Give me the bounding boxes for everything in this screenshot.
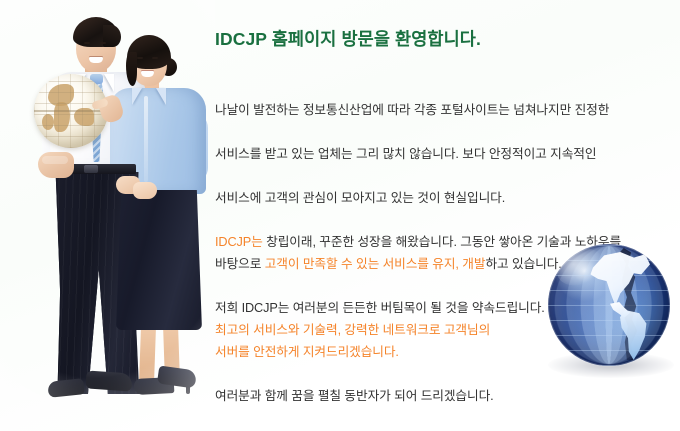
intro-line-1: 나날이 발전하는 정보통신산업에 따라 각종 포털사이트는 넘쳐나지만 진정한	[215, 103, 609, 117]
woman-hair-side	[126, 52, 137, 86]
man-right-shoe	[85, 370, 132, 391]
woman-shirt-placket	[144, 96, 148, 182]
man-left-shoe	[47, 378, 84, 398]
welcome-page: IDCJP 홈페이지 방문을 환영합니다. 나날이 발전하는 정보통신산업에 따…	[0, 0, 680, 431]
antique-globe-prop	[34, 74, 108, 148]
intro-line-2: 서비스를 받고 있는 업체는 그리 많치 않습니다. 보다 안정적이고 지속적인	[215, 147, 596, 161]
globe-sphere	[548, 244, 670, 366]
promise-highlight: 최고의 서비스와 기술력, 강력한 네트워크로 고객님의 서버를 안전하게 지켜…	[215, 323, 490, 359]
intro-line-3: 서비스에 고객의 관심이 모아지고 있는 것이 현실입니다.	[215, 191, 505, 205]
man-belt-buckle	[84, 165, 98, 173]
globe-equator	[34, 110, 108, 112]
page-title: IDCJP 홈페이지 방문을 환영합니다.	[215, 26, 670, 51]
promise-text: 저희 IDCJP는 여러분의 든든한 버팀목이 될 것을 약속드립니다.	[215, 301, 545, 315]
man-collar-right	[104, 74, 114, 92]
paragraph-intro: 나날이 발전하는 정보통신산업에 따라 각종 포털사이트는 넘쳐나지만 진정한 …	[215, 77, 670, 209]
woman-collar-left	[132, 88, 142, 105]
man-left-hand	[38, 152, 74, 178]
man-hair	[73, 17, 119, 47]
partner-text: 여러분과 함께 꿈을 펼칠 동반자가 되어 드리겠습니다.	[215, 389, 494, 403]
blue-world-globe-icon	[548, 244, 670, 366]
growth-highlight: 고객이 만족할 수 있는 서비스를 유지, 개발	[265, 257, 486, 271]
woman-left-leg	[139, 324, 156, 386]
business-people-photo	[0, 0, 215, 400]
woman-skirt	[116, 190, 202, 330]
woman-right-eye	[152, 57, 158, 59]
woman-collar-right	[156, 88, 166, 105]
paragraph-partner: 여러분과 함께 꿈을 펼칠 동반자가 되어 드리겠습니다.	[215, 385, 670, 407]
man-smile	[89, 57, 103, 63]
woman-right-hand	[133, 182, 157, 199]
woman-left-eye	[137, 57, 143, 59]
growth-brand-name: IDCJP는	[215, 235, 263, 249]
